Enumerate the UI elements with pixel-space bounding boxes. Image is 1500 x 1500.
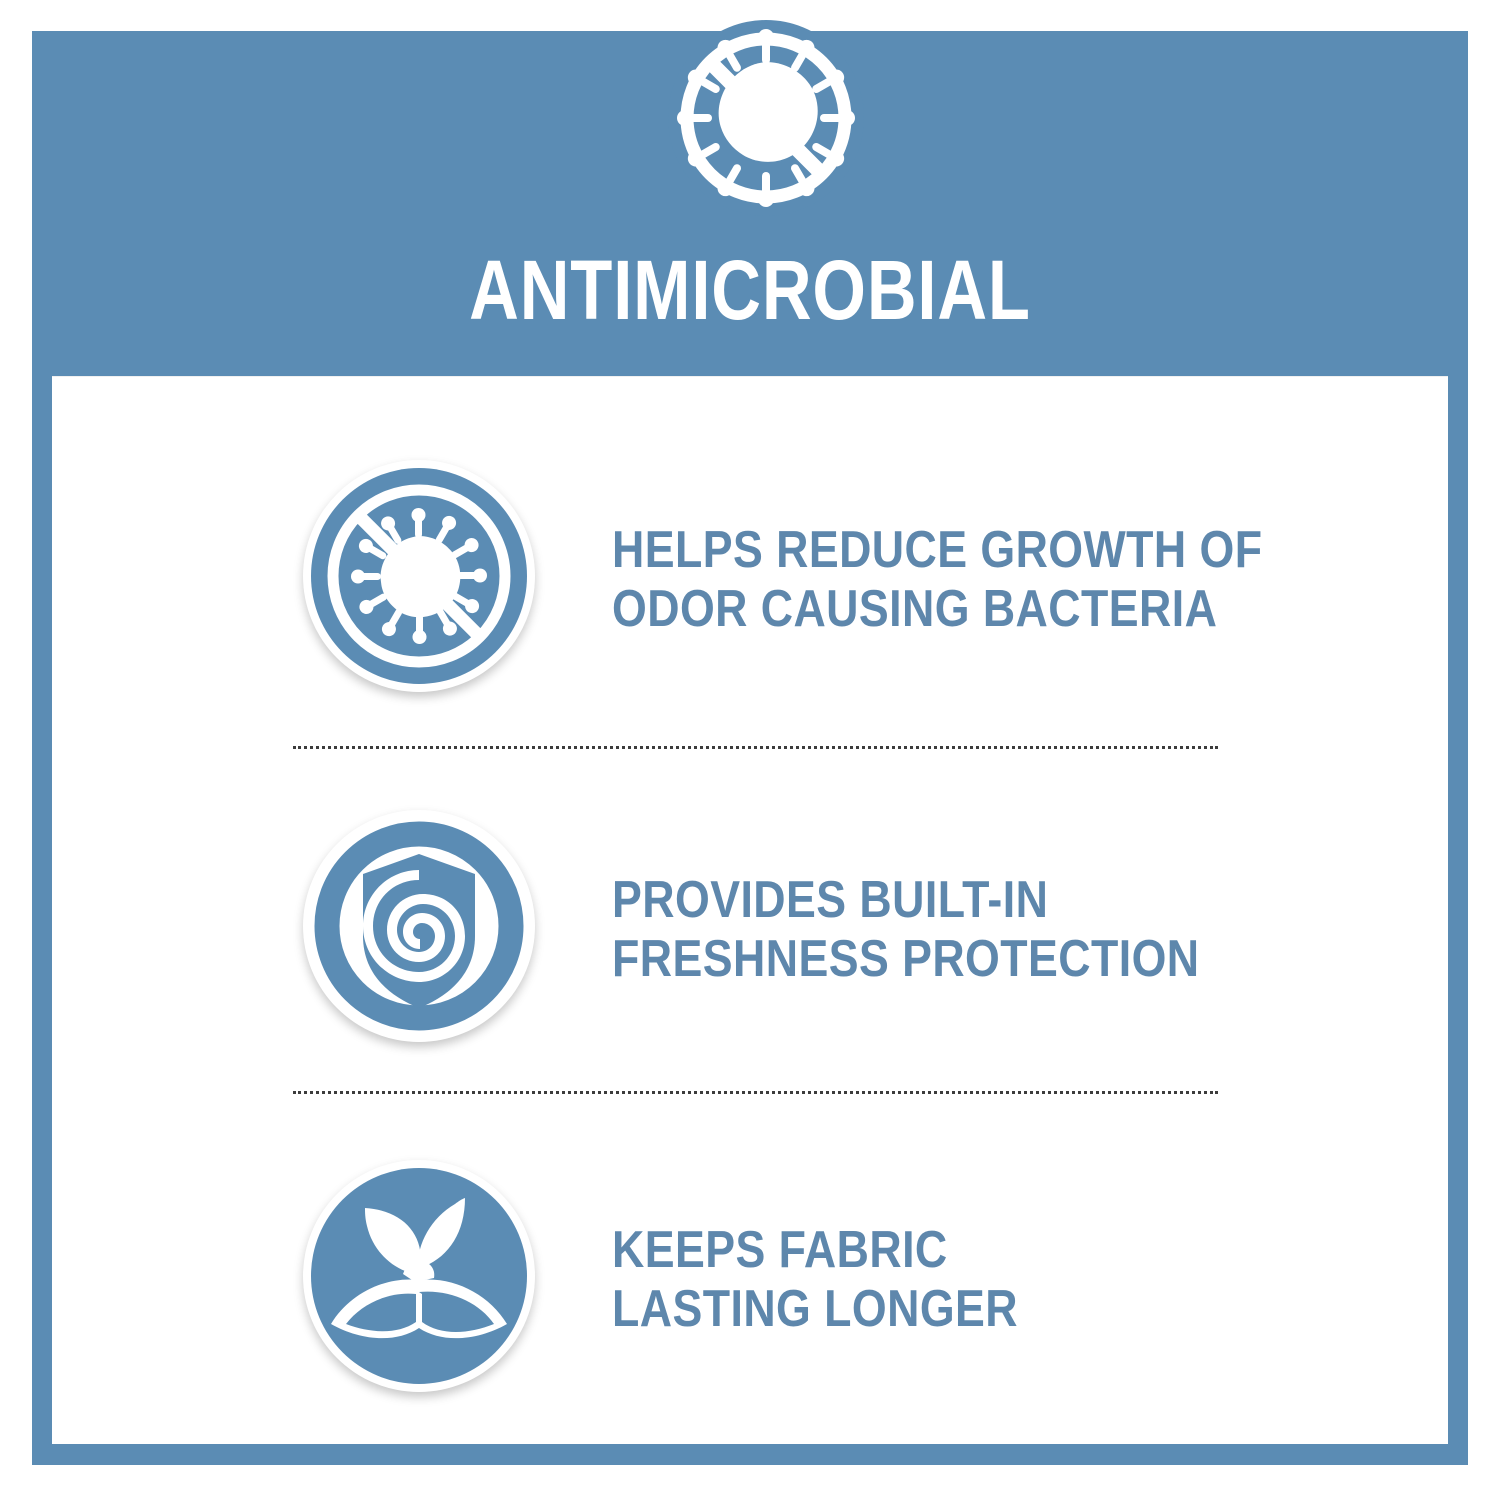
feature-text-3: KEEPS FABRIC LASTING LONGER — [612, 1155, 1432, 1405]
page-title: ANTIMICROBIAL — [161, 248, 1339, 332]
sprout-leaf-icon — [303, 1160, 535, 1392]
feature-line-2a: PROVIDES BUILT-IN — [612, 871, 1317, 930]
divider-1 — [293, 746, 1218, 749]
feature-line-2b: FRESHNESS PROTECTION — [612, 930, 1317, 989]
feature-line-1b: ODOR CAUSING BACTERIA — [612, 580, 1317, 639]
feature-text-2: PROVIDES BUILT-IN FRESHNESS PROTECTION — [612, 805, 1432, 1055]
feature-icon-3 — [293, 1155, 543, 1405]
feature-text-1: HELPS REDUCE GROWTH OF ODOR CAUSING BACT… — [612, 455, 1432, 705]
feature-line-3b: LASTING LONGER — [612, 1280, 1317, 1339]
no-germ-icon — [668, 6, 864, 230]
feature-row: PROVIDES BUILT-IN FRESHNESS PROTECTION — [52, 805, 1448, 1055]
feature-row: HELPS REDUCE GROWTH OF ODOR CAUSING BACT… — [52, 455, 1448, 705]
divider-2 — [293, 1091, 1218, 1094]
shield-spiral-icon — [303, 810, 535, 1042]
feature-line-1a: HELPS REDUCE GROWTH OF — [612, 521, 1317, 580]
infographic-canvas: ANTIMICROBIAL — [0, 0, 1500, 1500]
feature-row: KEEPS FABRIC LASTING LONGER — [52, 1155, 1448, 1405]
feature-list: HELPS REDUCE GROWTH OF ODOR CAUSING BACT… — [52, 376, 1448, 1444]
feature-icon-2 — [293, 805, 543, 1055]
feature-line-3a: KEEPS FABRIC — [612, 1221, 1317, 1280]
feature-icon-1 — [293, 455, 543, 705]
no-germ-icon — [303, 460, 535, 692]
